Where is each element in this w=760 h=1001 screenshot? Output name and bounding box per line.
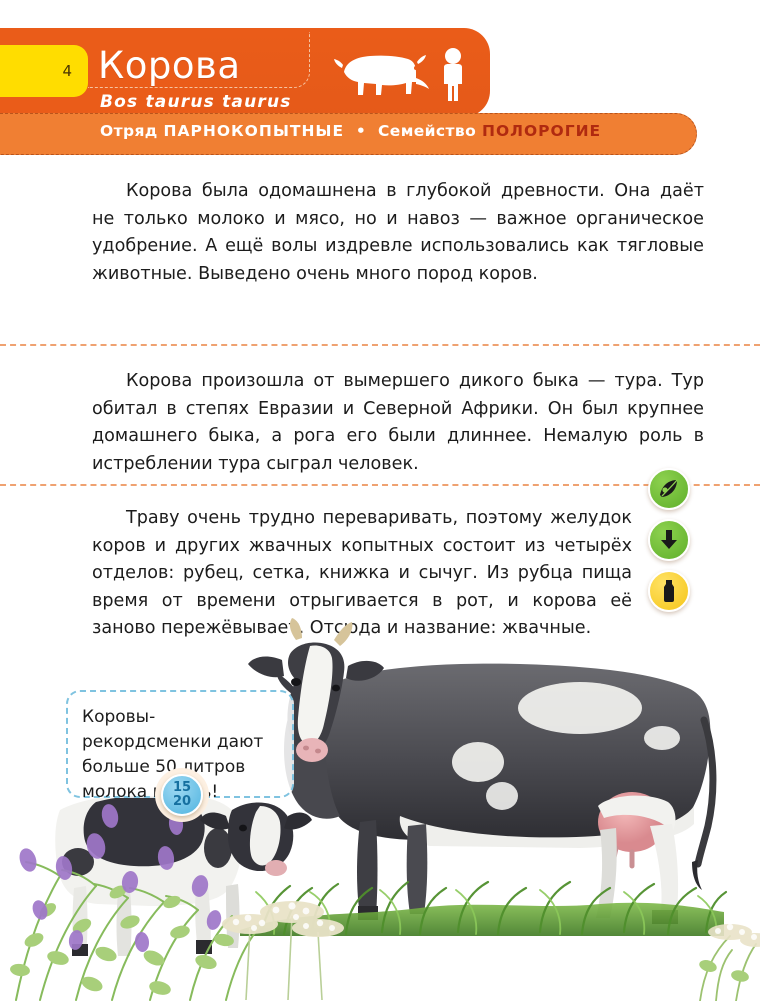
family-label: Семейство [378, 122, 476, 140]
herbivore-diet-icon [648, 468, 690, 510]
page-number-tab: 4 [0, 45, 88, 97]
taxonomy-line: Отряд ПАРНОКОПЫТНЫЕ • Семейство ПОЛОРОГИ… [100, 122, 601, 140]
record-badge-bottom: 20 [173, 795, 191, 809]
latin-name: Bos taurus taurus [100, 92, 292, 112]
family-value: ПОЛОРОГИЕ [482, 122, 601, 140]
order-label: Отряд [100, 122, 158, 140]
section-divider [0, 484, 760, 486]
order-value: ПАРНОКОПЫТНЫЕ [164, 122, 345, 140]
taxonomy-separator: • [356, 122, 366, 140]
paragraph-origin: Корова произошла от вымершего дикого бык… [92, 368, 704, 478]
record-badge-top: 15 [173, 781, 191, 795]
page-number: 4 [62, 62, 72, 80]
plant-leaf-glyph [656, 477, 682, 501]
human-silhouette-icon [444, 48, 462, 101]
section-divider [0, 344, 760, 346]
cow-illustration [0, 610, 760, 1001]
bottle-glyph [658, 578, 680, 604]
down-arrow-glyph [657, 528, 681, 552]
paragraph-domestication: Корова была одомашнена в глубокой древно… [92, 178, 704, 288]
cow-adult [248, 618, 713, 924]
cow-silhouette-icon [334, 55, 429, 95]
encyclopedia-page: 4 Корова Bos taurus taurus Отряд ПАРНОКО… [0, 0, 760, 1001]
page-title: Корова [98, 44, 241, 87]
milk-bottle-icon [648, 570, 690, 612]
side-icon-badges [648, 468, 696, 621]
page-header: 4 Корова Bos taurus taurus Отряд ПАРНОКО… [0, 0, 760, 160]
size-comparison-icons [330, 42, 480, 104]
download-arrow-icon [648, 519, 690, 561]
record-badge: 15 20 [161, 774, 203, 816]
